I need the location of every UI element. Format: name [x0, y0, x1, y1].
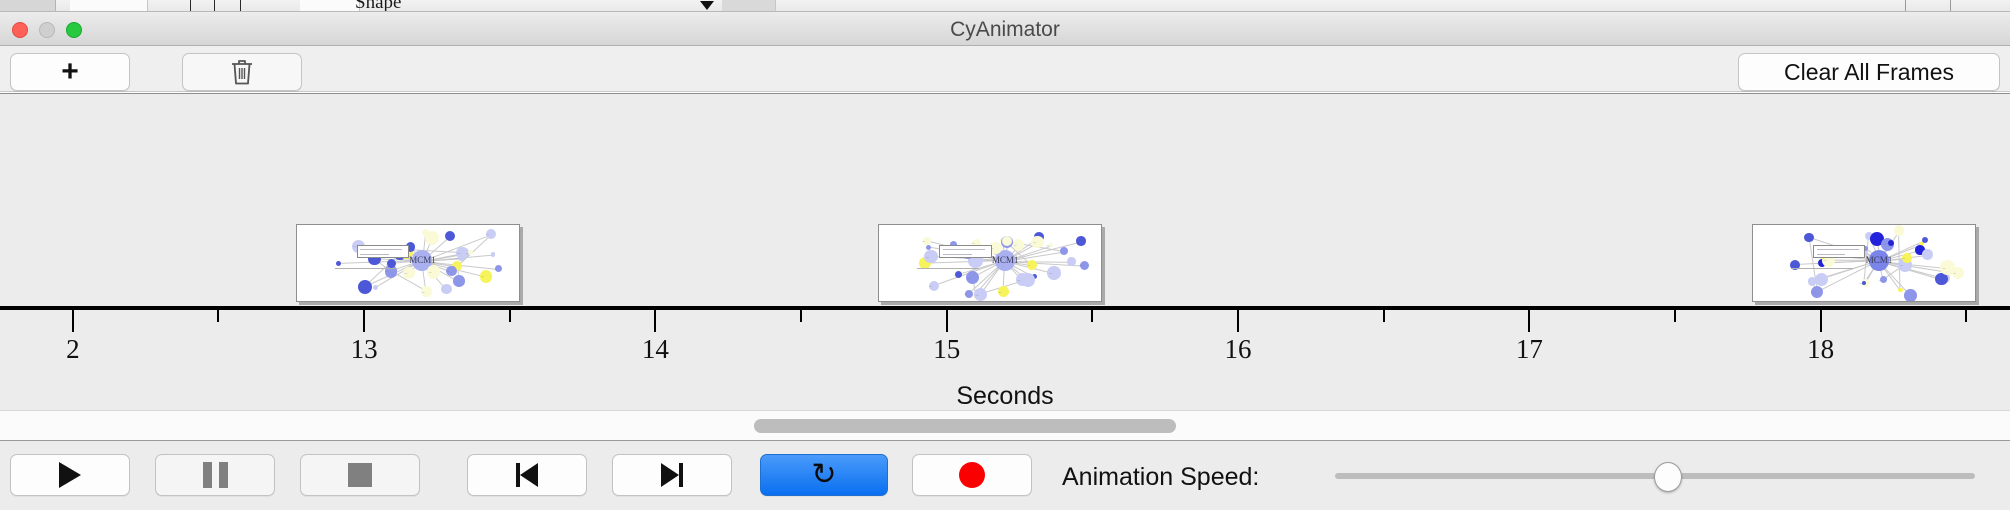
network-node: [1804, 233, 1813, 242]
axis-tick-label: 15: [933, 334, 960, 365]
network-annotation-line: [1817, 249, 1859, 250]
playback-bar: ↻ Animation Speed:: [0, 440, 2010, 510]
bg-tick: [214, 0, 215, 12]
network-node-label: —: [1076, 239, 1079, 243]
axis-tick-major: [1820, 310, 1822, 332]
network-node: [373, 285, 378, 290]
bg-tick: [1905, 0, 1906, 12]
axis-tick-major: [654, 310, 656, 332]
network-node: [1922, 237, 1928, 243]
bg-segment: [70, 0, 148, 12]
network-node-label: —: [1812, 290, 1815, 294]
timeline-scrollbar[interactable]: [0, 410, 2010, 440]
timeline-axis: [0, 306, 2010, 310]
network-node-label: —: [1886, 241, 1889, 245]
play-icon: [59, 462, 81, 488]
plus-icon: +: [61, 57, 79, 87]
network-annotation-box: [939, 245, 991, 258]
stop-button[interactable]: [300, 454, 420, 496]
network-node-label: —: [1902, 256, 1905, 260]
network-node-label: —: [1049, 271, 1052, 275]
network-node: [491, 252, 496, 257]
network-node-label: —: [445, 234, 448, 238]
stop-icon: [348, 463, 372, 487]
network-annotation-line: [943, 249, 985, 250]
delete-frame-button[interactable]: [182, 53, 302, 91]
animation-speed-label: Animation Speed:: [1062, 463, 1259, 492]
pause-button[interactable]: [155, 454, 275, 496]
frame-strip: ————————————————————MCM1————————————————…: [0, 94, 2010, 306]
network-node: [1904, 289, 1916, 301]
network-caption-line: [917, 268, 979, 269]
network-annotation-line: [943, 254, 972, 255]
network-node: [468, 250, 473, 255]
scrollbar-thumb[interactable]: [754, 419, 1176, 433]
axis-tick-label: 14: [642, 334, 669, 365]
network-node: [441, 284, 451, 294]
network-node-label: —: [369, 257, 372, 261]
network-node-label: —: [929, 284, 932, 288]
network-node-label: —: [975, 293, 978, 297]
network-annotation-box: [357, 245, 409, 258]
network-node-label: —: [386, 262, 389, 266]
network-node-label: —: [922, 239, 925, 243]
axis-tick-label: 2: [66, 334, 80, 365]
network-node: [1894, 225, 1905, 236]
axis-tick-major: [946, 310, 948, 332]
bg-tick: [240, 0, 241, 12]
network-caption-line: [1791, 268, 1853, 269]
network-node-label: —: [1823, 258, 1826, 262]
axis-tick-minor: [1091, 310, 1093, 322]
network-node-label: —: [494, 267, 497, 271]
timeline-frame[interactable]: ———————————————————MCM1: [878, 224, 1102, 302]
axis-tick-major: [1528, 310, 1530, 332]
network-node-label: —: [386, 269, 389, 273]
axis-tick-minor: [1674, 310, 1676, 322]
network-node-label: —: [360, 285, 363, 289]
network-annotation-line: [360, 249, 402, 250]
network-node-label: —: [404, 271, 407, 275]
axis-tick-major: [72, 310, 74, 332]
network-hub-label: MCM1: [409, 255, 436, 265]
network-node-label: —: [967, 276, 970, 280]
axis-tick-label: 16: [1225, 334, 1252, 365]
animation-speed-thumb[interactable]: [1654, 462, 1682, 492]
title-bar[interactable]: CyAnimator: [0, 12, 2010, 46]
network-node: [1049, 243, 1053, 247]
bg-segment: [300, 0, 360, 12]
network-node: [453, 275, 465, 287]
network-hub-label: MCM1: [992, 255, 1019, 265]
network-annotation-line: [360, 254, 389, 255]
axis-tick-minor: [509, 310, 511, 322]
skip-back-icon: [516, 463, 538, 487]
window-title: CyAnimator: [0, 18, 2010, 42]
network-node-label: —: [954, 273, 957, 277]
network-annotation-box: [1813, 245, 1865, 258]
network-node-label: —: [422, 290, 425, 294]
axis-tick-major: [1237, 310, 1239, 332]
clear-all-frames-button[interactable]: Clear All Frames: [1738, 53, 2000, 91]
axis-tick-minor: [217, 310, 219, 322]
axis-tick-label: 18: [1807, 334, 1834, 365]
background-window-strip: Shape: [0, 0, 2010, 12]
toolbar: + Clear All Frames: [0, 46, 2010, 92]
network-node-label: —: [1014, 243, 1017, 247]
trash-icon: [229, 58, 255, 86]
skip-forward-icon: [661, 463, 683, 487]
network-node: [1922, 249, 1933, 260]
network-node: [1060, 247, 1068, 255]
frame-thumbnail: ————————————————————MCM1: [297, 225, 519, 301]
bg-caret-icon: [700, 1, 714, 10]
network-node-label: —: [1033, 240, 1036, 244]
network-node: [1067, 257, 1075, 265]
clear-all-frames-label: Clear All Frames: [1784, 59, 1954, 86]
network-node-label: —: [1046, 243, 1049, 247]
axis-tick-minor: [800, 310, 802, 322]
network-node-label: —: [1027, 263, 1030, 267]
add-frame-button[interactable]: +: [10, 53, 130, 91]
network-node: [1815, 273, 1828, 286]
play-button[interactable]: [10, 454, 130, 496]
loop-icon: ↻: [811, 460, 836, 490]
network-node: [336, 261, 341, 266]
skip-to-end-button[interactable]: [612, 454, 732, 496]
network-node-label: —: [926, 255, 929, 259]
network-node-label: —: [1859, 281, 1862, 285]
network-node-label: —: [964, 292, 967, 296]
timeline-frame[interactable]: —————————————————MCM1: [1752, 224, 1976, 302]
skip-to-start-button[interactable]: [467, 454, 587, 496]
record-icon: [959, 462, 985, 488]
network-node-label: —: [486, 232, 489, 236]
network-caption-line: [335, 268, 397, 269]
network-node-label: —: [456, 256, 459, 260]
network-node: [1898, 288, 1902, 292]
network-hub-label: MCM1: [1866, 255, 1893, 265]
network-node-label: —: [1079, 263, 1082, 267]
bg-tick: [190, 0, 191, 12]
network-node-label: —: [446, 269, 449, 273]
network-node-label: —: [1879, 278, 1882, 282]
bg-segment: [722, 0, 776, 12]
loop-button[interactable]: ↻: [760, 454, 888, 496]
cyanimator-window: Shape CyAnimator + Clear All Frame: [0, 0, 2010, 510]
network-annotation-line: [1817, 254, 1846, 255]
axis-tick-minor: [1965, 310, 1967, 322]
timeline-panel[interactable]: ————————————————————MCM1————————————————…: [0, 93, 2010, 410]
axis-title: Seconds: [0, 382, 2010, 410]
bg-window-label: Shape: [355, 0, 401, 12]
network-node: [458, 255, 464, 261]
network-node-label: —: [429, 270, 432, 274]
network-node-label: —: [1937, 277, 1940, 281]
bg-tick: [1950, 0, 1951, 12]
network-node-label: —: [998, 290, 1001, 294]
frame-thumbnail: —————————————————MCM1: [1753, 225, 1975, 301]
network-node-label: —: [1817, 261, 1820, 265]
pause-icon: [203, 462, 228, 488]
bg-tab: [0, 0, 56, 12]
record-button[interactable]: [912, 454, 1032, 496]
network-node-label: —: [1017, 278, 1020, 282]
axis-tick-major: [363, 310, 365, 332]
network-node-label: —: [1900, 263, 1903, 267]
network-node-label: —: [1942, 266, 1945, 270]
network-node: [1808, 277, 1816, 285]
timeline-frame[interactable]: ————————————————————MCM1: [296, 224, 520, 302]
network-node-label: —: [481, 274, 484, 278]
axis-tick-label: 17: [1516, 334, 1543, 365]
frame-thumbnail: ———————————————————MCM1: [879, 225, 1101, 301]
network-node-label: —: [466, 251, 469, 255]
axis-tick-minor: [1383, 310, 1385, 322]
axis-tick-label: 13: [351, 334, 378, 365]
